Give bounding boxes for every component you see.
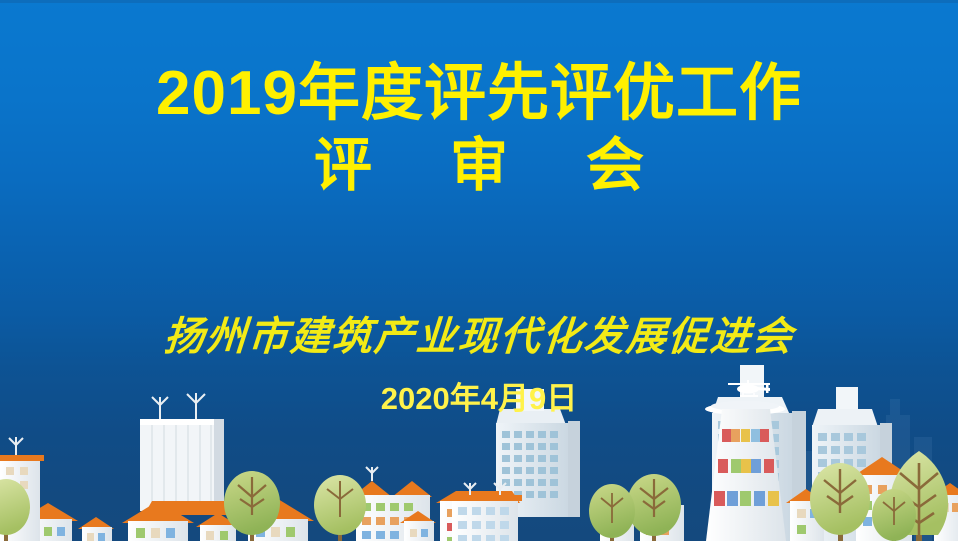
presentation-slide: 2019年度评先评优工作 评审会 扬州市建筑产业现代化发展促进会 2020年4月… xyxy=(0,0,958,541)
slide-title-line-2: 评审会 xyxy=(0,134,958,198)
tree-far-right xyxy=(872,489,916,541)
top-edge-line xyxy=(0,0,958,3)
organization-name: 扬州市建筑产业现代化发展促进会 xyxy=(0,313,958,361)
slide-title-line-1: 2019年度评先评优工作 xyxy=(0,60,958,128)
slide-date: 2020年4月9日 xyxy=(0,380,958,418)
